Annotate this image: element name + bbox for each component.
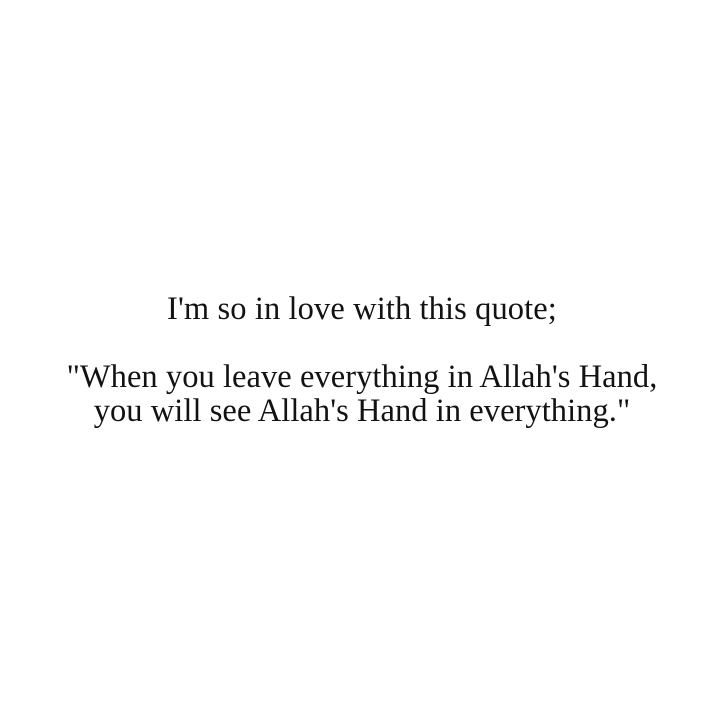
intro-line: I'm so in love with this quote; [167,292,557,326]
quotation-line-2: you will see Allah's Hand in everything.… [67,394,658,428]
quote-canvas: I'm so in love with this quote; "When yo… [0,0,720,720]
quotation-block: "When you leave everything in Allah's Ha… [67,360,658,428]
paragraph-spacer [362,326,363,360]
quote-text-block: I'm so in love with this quote; "When yo… [0,0,720,720]
quotation-line-1: "When you leave everything in Allah's Ha… [67,360,658,394]
